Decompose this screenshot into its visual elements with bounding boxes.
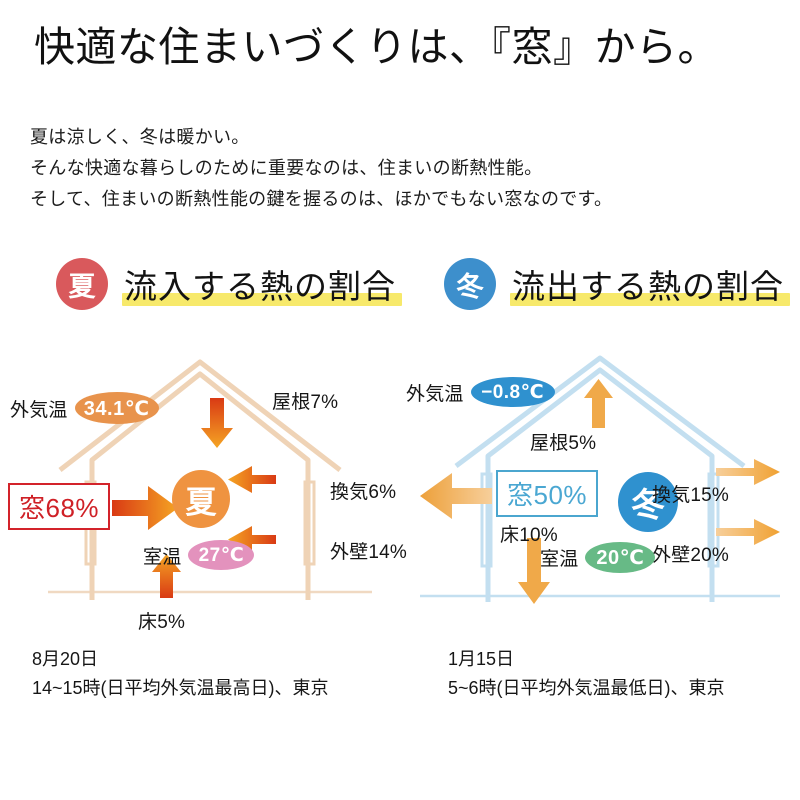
label-ventilation-summer: 換気6% xyxy=(330,477,396,504)
diagram-summer: 外気温 34.1℃ 屋根7% 換気6% 外壁14% 床5% 窓68% 夏 室温 … xyxy=(0,352,400,632)
section-heading-summer: 夏 流入する熱の割合 xyxy=(56,258,400,310)
outside-temp-value-winter: −0.8℃ xyxy=(471,377,555,407)
inside-temp-winter: 室温 20℃ xyxy=(540,542,655,573)
inside-temp-summer: 室温 27℃ xyxy=(143,540,254,570)
label-wall-winter: 外壁20% xyxy=(652,540,729,567)
label-floor-summer: 床5% xyxy=(138,607,185,634)
caption-winter-date: 1月15日 xyxy=(448,645,725,674)
caption-winter: 1月15日 5~6時(日平均外気温最低日)、東京 xyxy=(448,645,725,703)
outside-temp-value-summer: 34.1℃ xyxy=(75,392,159,424)
caption-summer-detail: 14~15時(日平均外気温最高日)、東京 xyxy=(32,674,329,703)
window-callout-winter: 窓50% xyxy=(496,470,598,517)
label-roof-winter: 屋根5% xyxy=(530,428,596,455)
arrow-window-inflow xyxy=(112,486,178,530)
label-ventilation-winter: 換気15% xyxy=(652,480,729,507)
diagram-winter: 外気温 −0.8℃ 屋根5% 窓50% 冬 換気15% 床10% 外壁20% 室… xyxy=(400,352,800,632)
infographic-page: 快適な住まいづくりは、『窓』から。 夏は涼しく、冬は暖かい。 そんな快適な暮らし… xyxy=(0,0,800,800)
label-wall-summer: 外壁14% xyxy=(330,537,407,564)
inside-temp-value-summer: 27℃ xyxy=(188,540,254,570)
label-roof-summer: 屋根7% xyxy=(272,387,338,414)
season-badge-winter: 冬 xyxy=(444,258,496,310)
lead-line-3: そして、住まいの断熱性能の鍵を握るのは、ほかでもない窓なのです。 xyxy=(30,184,612,215)
section-title-summer: 流入する熱の割合 xyxy=(120,260,400,308)
outside-temp-summer: 外気温 34.1℃ xyxy=(10,392,159,424)
season-badge-summer: 夏 xyxy=(56,258,108,310)
caption-winter-detail: 5~6時(日平均外気温最低日)、東京 xyxy=(448,674,725,703)
outside-temp-winter: 外気温 −0.8℃ xyxy=(406,377,555,407)
section-title-winter: 流出する熱の割合 xyxy=(508,260,788,308)
arrow-roof-outflow xyxy=(584,379,613,428)
arrow-roof-inflow xyxy=(201,398,233,448)
caption-summer: 8月20日 14~15時(日平均外気温最高日)、東京 xyxy=(32,645,329,703)
page-title: 快適な住まいづくりは、『窓』から。 xyxy=(34,24,719,71)
lead-line-2: そんな快適な暮らしのために重要なのは、住まいの断熱性能。 xyxy=(30,153,612,184)
lead-paragraph: 夏は涼しく、冬は暖かい。 そんな快適な暮らしのために重要なのは、住まいの断熱性能… xyxy=(30,122,612,215)
window-callout-summer: 窓68% xyxy=(8,483,110,530)
inside-temp-value-winter: 20℃ xyxy=(585,542,655,573)
caption-summer-date: 8月20日 xyxy=(32,645,329,674)
lead-line-1: 夏は涼しく、冬は暖かい。 xyxy=(30,122,612,153)
season-circle-summer: 夏 xyxy=(172,470,230,528)
section-heading-winter: 冬 流出する熱の割合 xyxy=(444,258,788,310)
arrow-ventilation-inflow xyxy=(228,466,276,493)
